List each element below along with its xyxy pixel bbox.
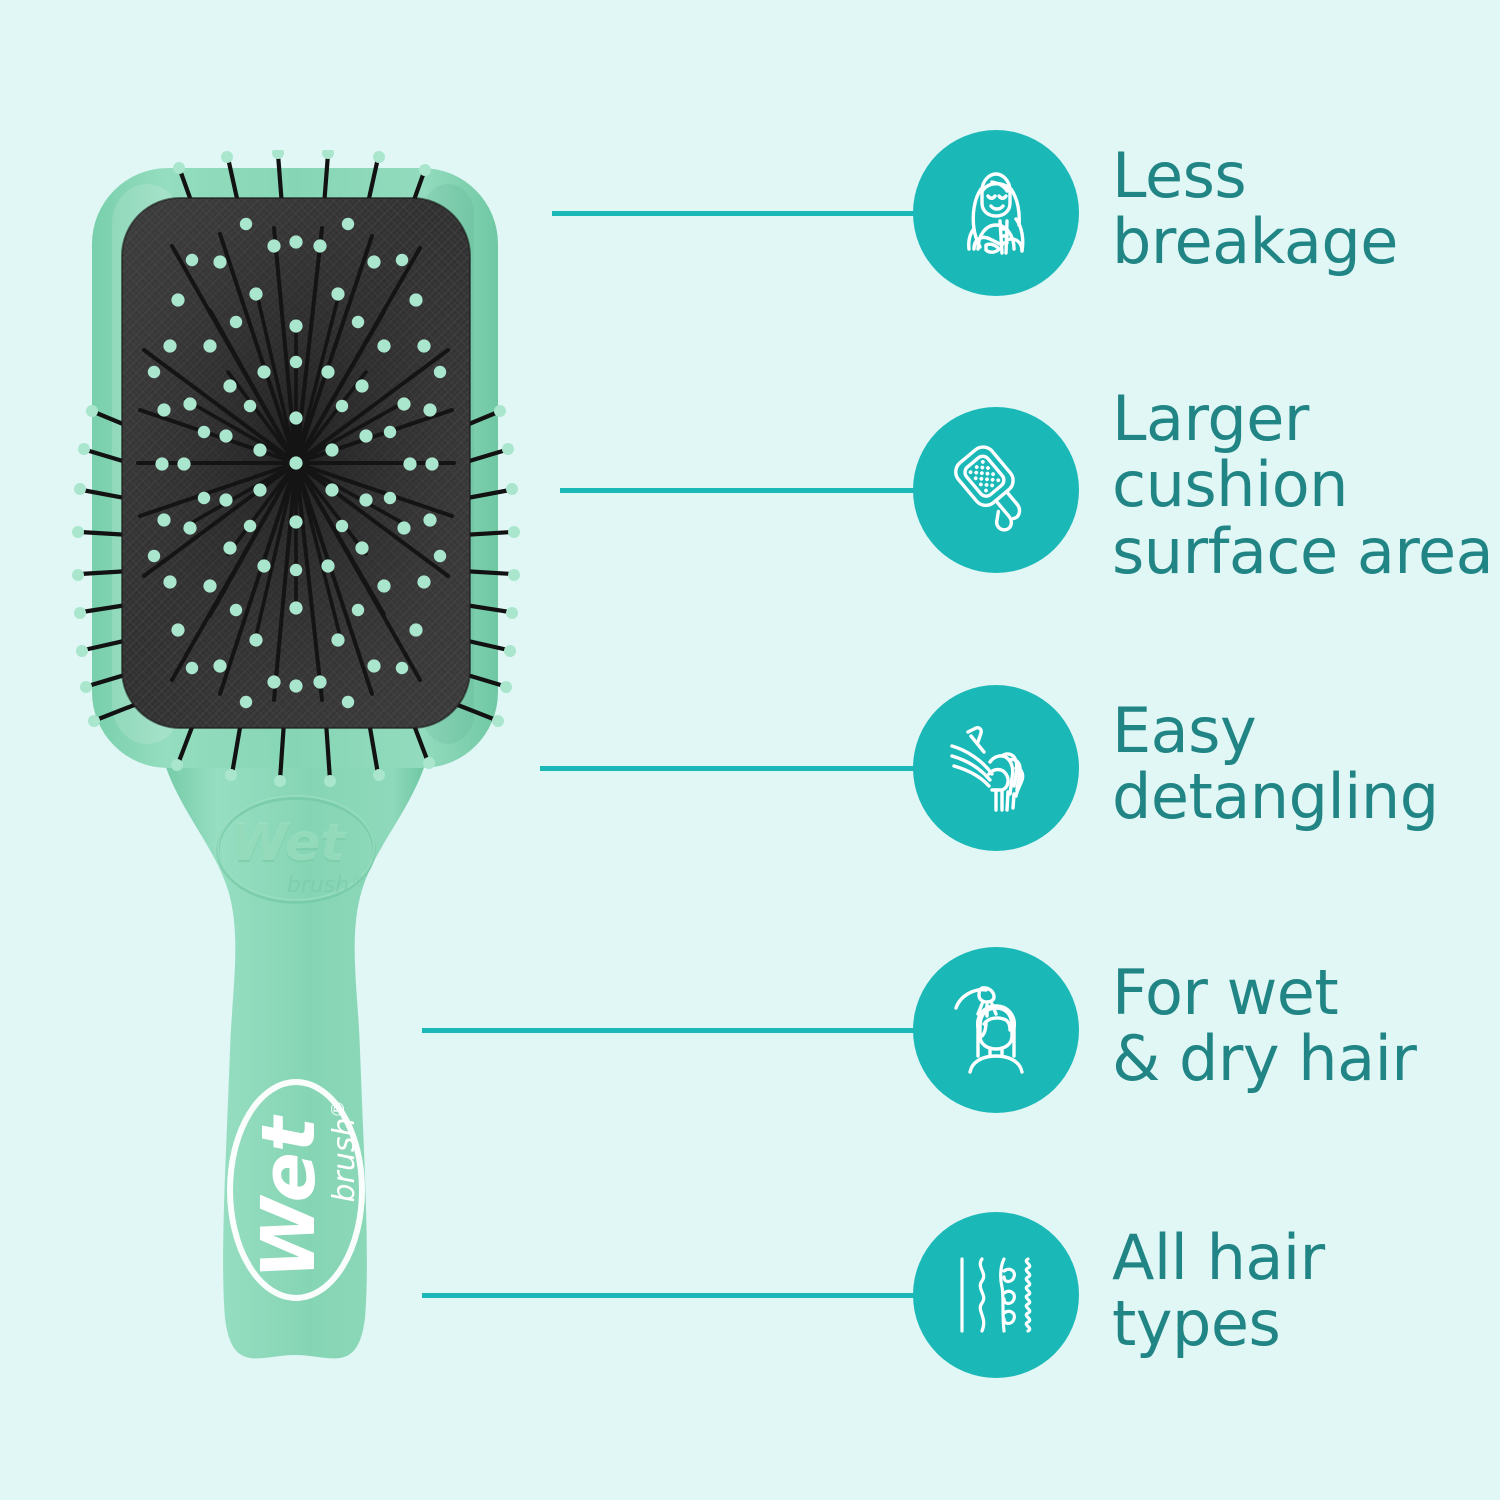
product-image-hair-brush: Wet Wet brush ® Wet brush ® <box>60 150 530 1380</box>
feature-icon-circle-for-wet-and-dry-hair[interactable] <box>913 947 1079 1113</box>
svg-text:®: ® <box>328 1100 349 1118</box>
showerhead-woman-icon <box>944 978 1048 1082</box>
svg-text:Wet: Wet <box>231 813 347 873</box>
connector-line-larger-cushion-surface-area <box>560 488 962 493</box>
feature-icon-circle-larger-cushion-surface-area[interactable] <box>913 407 1079 573</box>
feature-label-easy-detangling: Easy detangling <box>1112 698 1439 831</box>
connector-line-all-hair-types <box>422 1293 962 1298</box>
connector-line-easy-detangling <box>540 766 962 771</box>
svg-text:Wet: Wet <box>246 1114 332 1279</box>
feature-label-for-wet-and-dry-hair: For wet & dry hair <box>1112 960 1416 1093</box>
feature-icon-circle-all-hair-types[interactable] <box>913 1212 1079 1378</box>
feature-icon-circle-less-breakage[interactable] <box>913 130 1079 296</box>
infographic-canvas: Wet Wet brush ® Wet brush ® <box>0 0 1500 1500</box>
woman-brushing-hair-icon <box>944 161 1048 265</box>
hair-textures-icon <box>944 1243 1048 1347</box>
connector-line-less-breakage <box>552 211 962 216</box>
hand-detangling-hair-icon <box>944 716 1048 820</box>
feature-label-larger-cushion-surface-area: Larger cushion surface area <box>1112 386 1493 585</box>
svg-text:®: ® <box>352 874 366 890</box>
feature-label-all-hair-types: All hair types <box>1112 1225 1325 1358</box>
feature-icon-circle-easy-detangling[interactable] <box>913 685 1079 851</box>
paddle-brush-icon <box>944 438 1048 542</box>
connector-line-for-wet-and-dry-hair <box>422 1028 962 1033</box>
svg-text:brush: brush <box>327 1117 362 1202</box>
svg-text:brush: brush <box>287 873 349 898</box>
feature-label-less-breakage: Less breakage <box>1112 143 1398 276</box>
